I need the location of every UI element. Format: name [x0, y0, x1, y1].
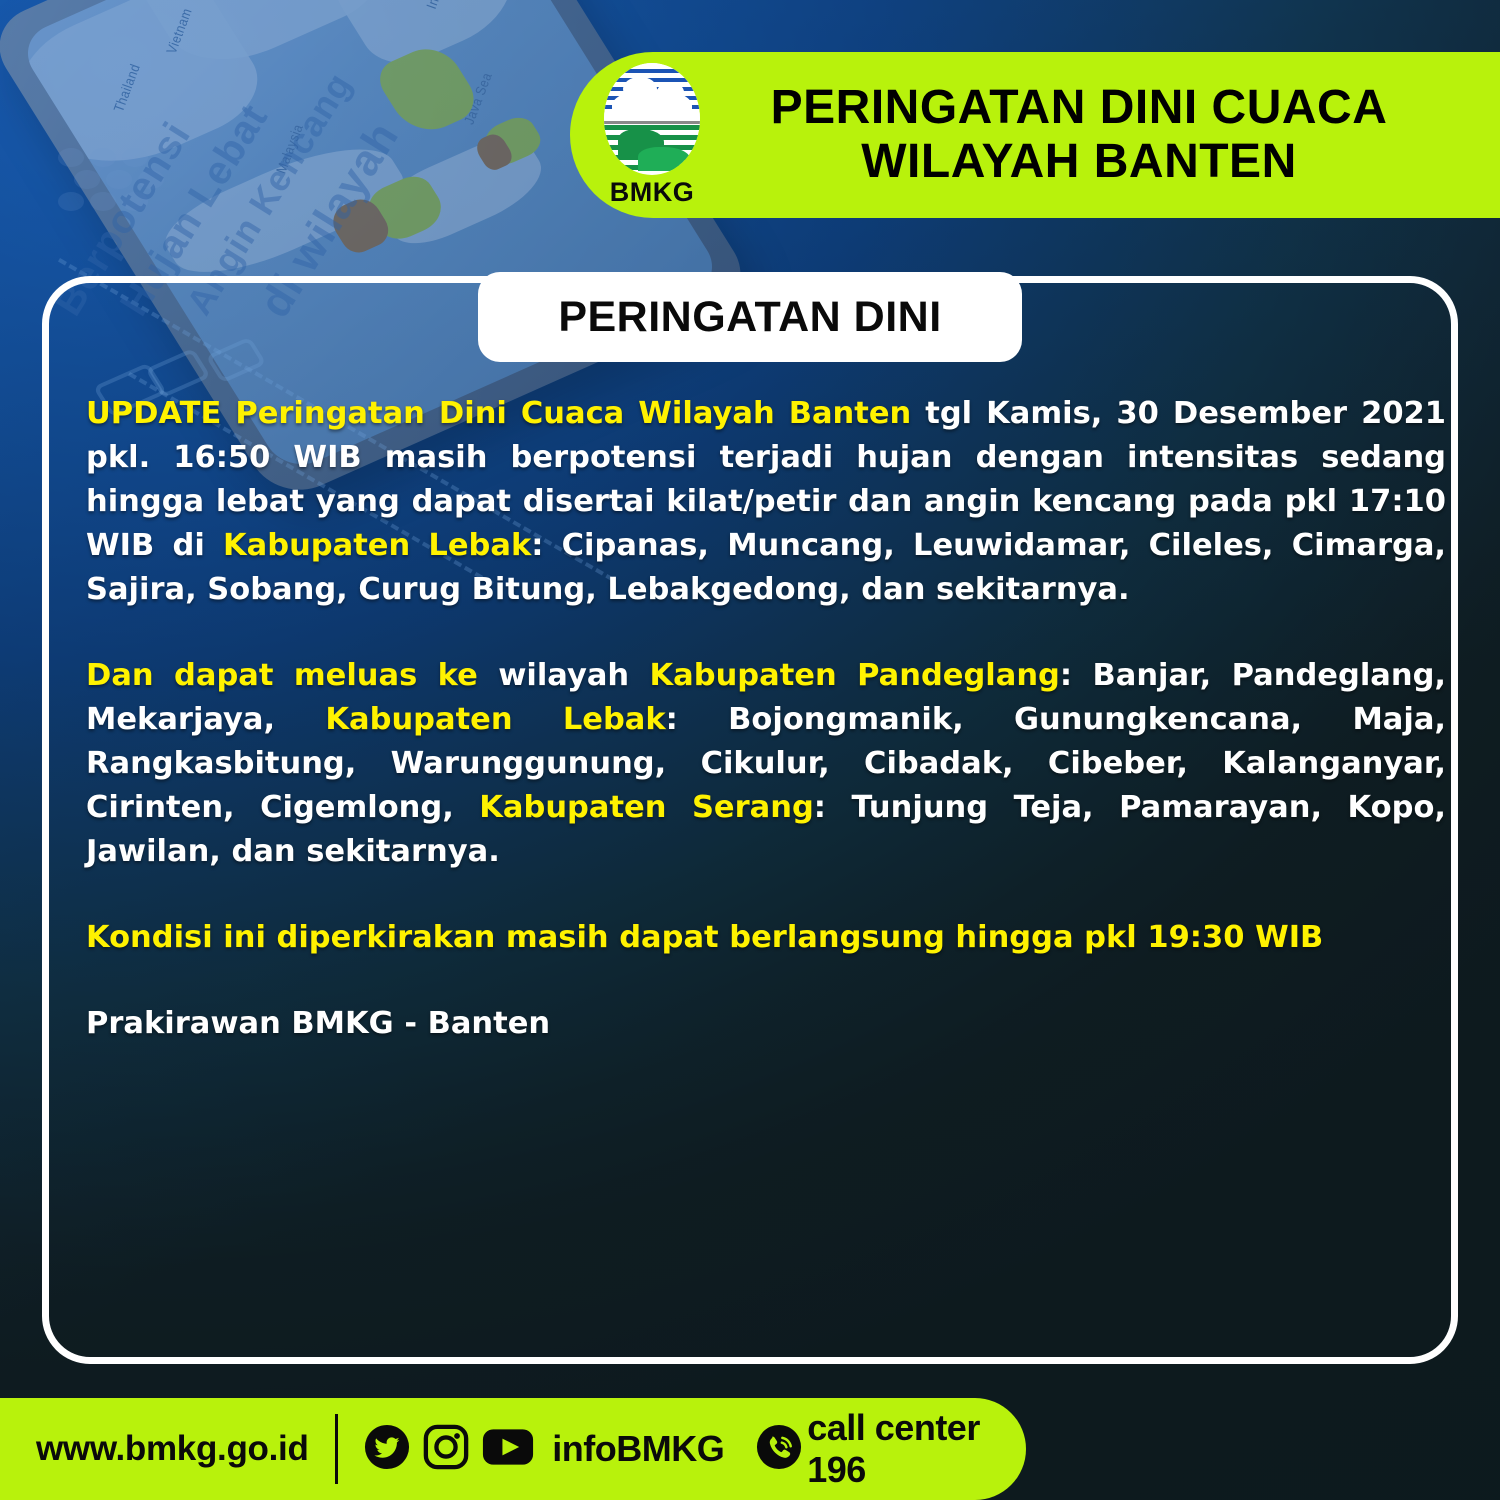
header-banner: BMKG PERINGATAN DINI CUACA WILAYAH BANTE…: [570, 52, 1500, 218]
warning-body: UPDATE Peringatan Dini Cuaca Wilayah Ban…: [86, 392, 1446, 1046]
footer-banner: www.bmkg.go.id infoBMKG: [0, 1398, 1026, 1500]
phone-call-icon[interactable]: [756, 1424, 802, 1475]
youtube-icon[interactable]: [482, 1427, 534, 1472]
p2-text-a: wilayah: [478, 658, 650, 693]
p3-highlight-duration: Kondisi ini diperkirakan masih dapat ber…: [86, 920, 1323, 955]
footer-divider: [335, 1414, 339, 1484]
p2-highlight-kabupaten-serang: Kabupaten Serang: [479, 790, 813, 825]
bmkg-logo-icon: [604, 63, 700, 175]
twitter-icon[interactable]: [364, 1424, 410, 1475]
instagram-icon[interactable]: [423, 1424, 469, 1475]
p1-highlight-kabupaten-lebak: Kabupaten Lebak: [223, 528, 531, 563]
page-title-line1: PERINGATAN DINI CUACA: [718, 81, 1440, 135]
page-title-line2: WILAYAH BANTEN: [718, 135, 1440, 189]
bmkg-logo-text: BMKG: [610, 177, 695, 208]
p2-highlight-kabupaten-lebak: Kabupaten Lebak: [325, 702, 665, 737]
social-handle[interactable]: infoBMKG: [552, 1428, 724, 1470]
p2-highlight-kabupaten-pandeglang: Kabupaten Pandeglang: [650, 658, 1060, 693]
p1-highlight-title: UPDATE Peringatan Dini Cuaca Wilayah Ban…: [86, 396, 911, 431]
paragraph-2: Dan dapat meluas ke wilayah Kabupaten Pa…: [86, 654, 1446, 874]
paragraph-1: UPDATE Peringatan Dini Cuaca Wilayah Ban…: [86, 392, 1446, 612]
card-tab: PERINGATAN DINI: [478, 272, 1022, 362]
paragraph-3: Kondisi ini diperkirakan masih dapat ber…: [86, 916, 1446, 960]
page-title: PERINGATAN DINI CUACA WILAYAH BANTEN: [718, 81, 1500, 189]
card-tab-label: PERINGATAN DINI: [558, 293, 941, 342]
p2-highlight-meluas: Dan dapat meluas ke: [86, 658, 478, 693]
bmkg-logo: BMKG: [586, 63, 718, 208]
paragraph-4-signature: Prakirawan BMKG - Banten: [86, 1002, 1446, 1046]
website-url[interactable]: www.bmkg.go.id: [36, 1429, 309, 1469]
call-center-label[interactable]: call center 196: [807, 1407, 1026, 1491]
call-center-group[interactable]: call center 196: [756, 1407, 1026, 1491]
